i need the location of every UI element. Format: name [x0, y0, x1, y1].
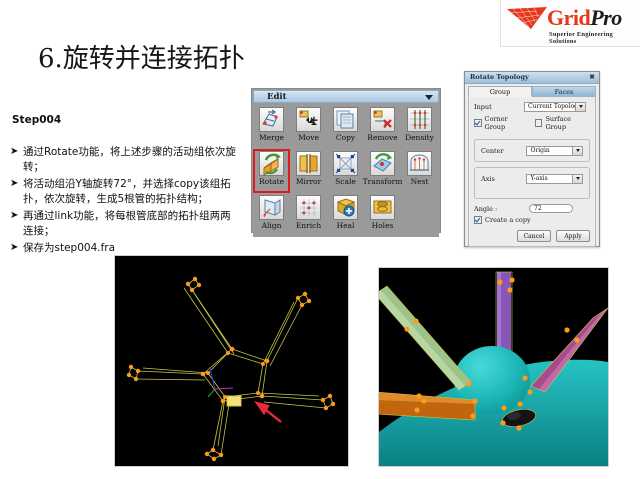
toolbar-body: Merge Move Copy	[253, 103, 439, 237]
surface-group-checkbox[interactable]: Surface Group	[535, 115, 590, 131]
step-label: Step004	[12, 114, 61, 126]
input-row: Input Current Topology	[474, 101, 590, 112]
list-item: ➤ 通过Rotate功能，将上述步骤的活动组依次旋转；	[10, 145, 240, 174]
bullet-marker-icon: ➤	[10, 145, 23, 174]
rotate-topology-dialog: Rotate Topology ✖ Group Faces Input Curr…	[464, 71, 600, 247]
axis-select-value: Y-axis	[527, 175, 547, 182]
dialog-title-bar[interactable]: Rotate Topology ✖	[465, 72, 599, 84]
input-label: Input	[474, 103, 524, 111]
center-select[interactable]: Origin	[526, 146, 583, 156]
holes-icon	[370, 195, 395, 220]
tab-faces[interactable]: Faces	[532, 86, 596, 97]
toolbar-button-label: Move	[298, 133, 319, 142]
page-title: 6.旋转并连接拓扑	[38, 38, 245, 75]
heal-icon	[333, 195, 358, 220]
toolbar-header[interactable]: Edit	[253, 90, 439, 103]
toolbar-button-enrich[interactable]: Enrich	[290, 193, 327, 237]
list-item: ➤ 将活动组沿Y轴旋转72°，并选择copy该组拓扑，依次旋转，生成5根管的拓扑…	[10, 177, 240, 206]
shaded-surface-view[interactable]	[378, 267, 609, 467]
center-select-value: Origin	[527, 147, 549, 154]
brand-logo: GridPro Superior Engineering Solutions	[500, 0, 640, 47]
toolbar-button-density[interactable]: Density	[401, 105, 438, 149]
toolbar-button-mirror[interactable]: Mirror	[290, 149, 327, 193]
dialog-button-row: Cancel Apply	[517, 230, 590, 242]
toolbar-button-label: Scale	[335, 177, 356, 186]
create-copy-checkbox[interactable]: Create a copy	[474, 216, 590, 224]
axis-label: Axis	[481, 175, 526, 183]
checkbox-box	[474, 216, 482, 224]
scale-icon	[333, 151, 358, 176]
toolbar-button-transform[interactable]: Transform	[364, 149, 401, 193]
bullet-marker-icon: ➤	[10, 241, 23, 256]
toolbar-button-align[interactable]: Align	[253, 193, 290, 237]
density-icon	[407, 107, 432, 132]
toolbar-button-label: Heal	[337, 221, 355, 230]
transform-icon	[370, 151, 395, 176]
toolbar-button-holes[interactable]: Holes	[364, 193, 401, 237]
chevron-down-icon[interactable]	[425, 95, 433, 100]
merge-icon	[259, 107, 284, 132]
bullet-list: ➤ 通过Rotate功能，将上述步骤的活动组依次旋转； ➤ 将活动组沿Y轴旋转7…	[10, 145, 240, 259]
toolbar-button-label: Nest	[411, 177, 429, 186]
checkbox-label: Create a copy	[485, 216, 531, 224]
shaded-graphics	[379, 268, 608, 466]
apply-button[interactable]: Apply	[556, 230, 590, 242]
toolbar-header-label: Edit	[267, 92, 287, 102]
toolbar-button-label: Transform	[363, 177, 403, 186]
topology-wireframe-view[interactable]	[114, 255, 349, 467]
copy-icon	[333, 107, 358, 132]
toolbar-button-merge[interactable]: Merge	[253, 105, 290, 149]
gridpro-mark-icon	[507, 7, 551, 31]
checkbox-box	[535, 119, 543, 127]
checkbox-label: Corner Group	[485, 115, 527, 131]
move-icon	[296, 107, 321, 132]
rotate-icon	[259, 151, 284, 176]
list-item: ➤ 再通过link功能，将每根管底部的拓扑组两两连接；	[10, 209, 240, 238]
angle-input[interactable]: 72	[529, 204, 573, 213]
bullet-marker-icon: ➤	[10, 209, 23, 238]
chevron-down-icon[interactable]	[572, 147, 582, 155]
toolbar-button-heal[interactable]: Heal	[327, 193, 364, 237]
chevron-down-icon[interactable]	[572, 175, 582, 183]
bullet-marker-icon: ➤	[10, 177, 23, 206]
toolbar-button-nest[interactable]: Nest	[401, 149, 438, 193]
remove-icon	[370, 107, 395, 132]
dialog-tabs: Group Faces	[468, 86, 596, 97]
toolbar-button-copy[interactable]: Copy	[327, 105, 364, 149]
list-item-text: 保存为step004.fra	[23, 241, 115, 256]
list-item-text: 再通过link功能，将每根管底部的拓扑组两两连接；	[23, 209, 240, 238]
center-label: Center	[481, 147, 526, 155]
toolbar-row: Merge Move Copy	[253, 105, 439, 149]
angle-label: Angle :	[474, 205, 529, 213]
chevron-down-icon[interactable]	[575, 103, 585, 111]
tab-group[interactable]: Group	[468, 86, 532, 97]
input-select[interactable]: Current Topology	[524, 102, 586, 112]
edit-toolbar-panel: Edit Merge	[251, 88, 441, 233]
toolbar-button-scale[interactable]: Scale	[327, 149, 364, 193]
toolbar-button-move[interactable]: Move	[290, 105, 327, 149]
align-icon	[259, 195, 284, 220]
angle-row: Angle : 72	[474, 204, 590, 213]
toolbar-row: Align Enrich	[253, 193, 439, 237]
list-item-text: 通过Rotate功能，将上述步骤的活动组依次旋转；	[23, 145, 240, 174]
toolbar-button-label: Density	[405, 133, 434, 142]
cancel-button[interactable]: Cancel	[517, 230, 551, 242]
toolbar-row: Rotate Mirror	[253, 149, 439, 193]
toolbar-button-label: Merge	[259, 133, 284, 142]
input-select-value: Current Topology	[525, 103, 581, 110]
slide-canvas: GridPro Superior Engineering Solutions 6…	[0, 0, 640, 479]
checkbox-label: Surface Group	[545, 115, 590, 131]
logo-text-grid: Grid	[547, 5, 590, 30]
logo-text-pro: Pro	[590, 5, 622, 30]
toolbar-button-label: Rotate	[259, 177, 284, 186]
enrich-icon	[296, 195, 321, 220]
list-item-text: 将活动组沿Y轴旋转72°，并选择copy该组拓扑，依次旋转，生成5根管的拓扑结构…	[23, 177, 240, 206]
checkbox-box	[474, 119, 482, 127]
nest-icon	[407, 151, 432, 176]
mirror-icon	[296, 151, 321, 176]
axis-select[interactable]: Y-axis	[526, 174, 583, 184]
toolbar-button-rotate[interactable]: Rotate	[253, 149, 290, 193]
toolbar-button-label: Mirror	[296, 177, 321, 186]
logo-tagline: Superior Engineering Solutions	[549, 31, 640, 45]
dialog-body: Input Current Topology Corner Group Surf…	[468, 97, 596, 247]
center-group: Center Origin	[474, 139, 590, 162]
close-icon[interactable]: ✖	[589, 73, 595, 82]
list-item: ➤ 保存为step004.fra	[10, 241, 240, 256]
axis-group: Axis Y-axis	[474, 167, 590, 199]
toolbar-button-label: Enrich	[296, 221, 321, 230]
wireframe-graphics	[115, 256, 348, 466]
toolbar-button-label: Holes	[372, 221, 394, 230]
corner-group-checkbox[interactable]: Corner Group	[474, 115, 527, 131]
toolbar-button-label: Remove	[367, 133, 397, 142]
toolbar-button-label: Copy	[336, 133, 355, 142]
dialog-title: Rotate Topology	[470, 73, 529, 81]
toolbar-button-remove[interactable]: Remove	[364, 105, 401, 149]
toolbar-button-label: Align	[262, 221, 282, 230]
